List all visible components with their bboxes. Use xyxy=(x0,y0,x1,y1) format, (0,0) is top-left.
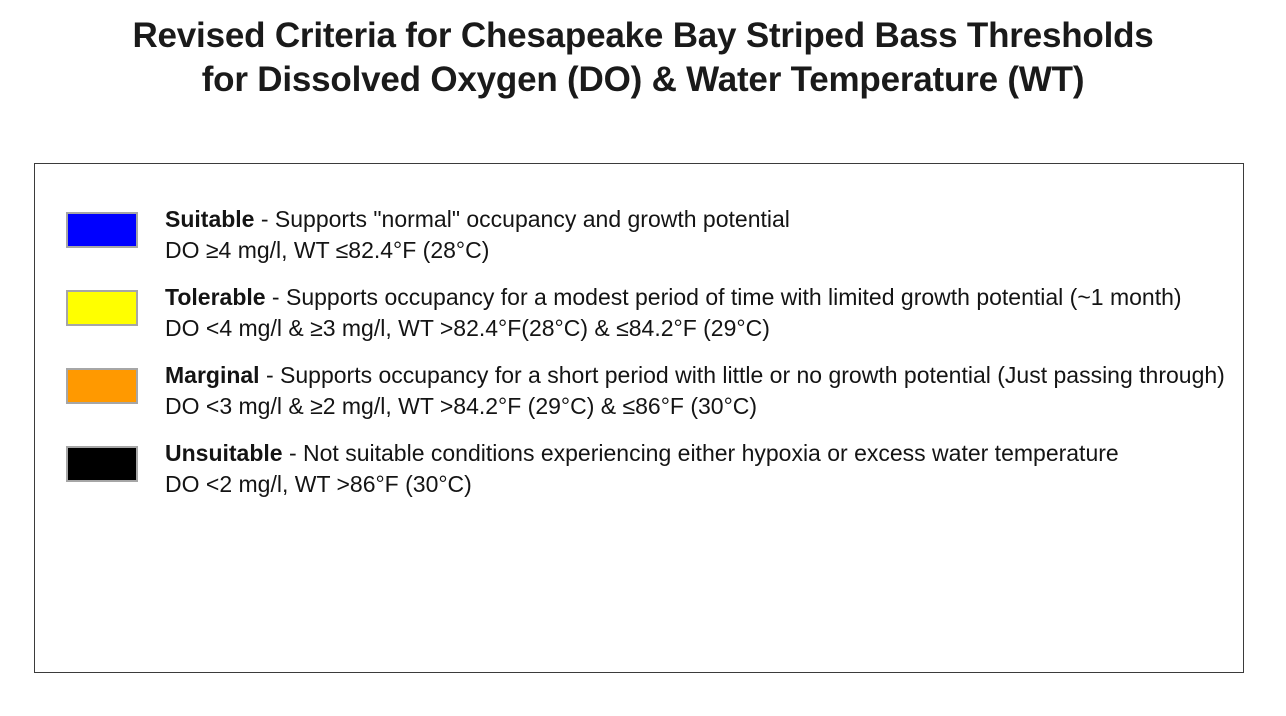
legend-item: Tolerable - Supports occupancy for a mod… xyxy=(35,282,1243,344)
legend-item-description-line: Unsuitable - Not suitable conditions exp… xyxy=(165,438,1225,469)
slide-canvas: Revised Criteria for Chesapeake Bay Stri… xyxy=(0,0,1286,716)
legend-item-name: Marginal xyxy=(165,362,260,388)
legend-item-separator: - xyxy=(283,440,303,466)
legend-item-description: Supports occupancy for a modest period o… xyxy=(286,284,1182,310)
legend-item-text: Tolerable - Supports occupancy for a mod… xyxy=(165,282,1225,344)
legend-item-separator: - xyxy=(254,206,274,232)
page-title: Revised Criteria for Chesapeake Bay Stri… xyxy=(40,14,1246,102)
legend-item-threshold-spec: DO <4 mg/l & ≥3 mg/l, WT >82.4°F(28°C) &… xyxy=(165,313,1225,344)
legend-item-description: Not suitable conditions experiencing eit… xyxy=(303,440,1119,466)
legend-color-swatch-black xyxy=(66,446,138,482)
legend-item-text: Marginal - Supports occupancy for a shor… xyxy=(165,360,1225,422)
legend-panel: Suitable - Supports "normal" occupancy a… xyxy=(34,163,1244,673)
legend-item-threshold-spec: DO <2 mg/l, WT >86°F (30°C) xyxy=(165,469,1225,500)
legend-item-text: Unsuitable - Not suitable conditions exp… xyxy=(165,438,1225,500)
legend-item-text: Suitable - Supports "normal" occupancy a… xyxy=(165,204,1225,266)
page-title-line-2: for Dissolved Oxygen (DO) & Water Temper… xyxy=(40,58,1246,102)
legend-item-name: Unsuitable xyxy=(165,440,283,466)
legend-item-separator: - xyxy=(266,284,286,310)
legend-color-swatch-yellow xyxy=(66,290,138,326)
legend-item: Marginal - Supports occupancy for a shor… xyxy=(35,360,1243,422)
legend-item-description: Supports "normal" occupancy and growth p… xyxy=(275,206,790,232)
legend-item-description-line: Suitable - Supports "normal" occupancy a… xyxy=(165,204,1225,235)
legend-item: Unsuitable - Not suitable conditions exp… xyxy=(35,438,1243,500)
legend-item-description: Supports occupancy for a short period wi… xyxy=(280,362,1225,388)
legend-color-swatch-blue xyxy=(66,212,138,248)
legend-item-threshold-spec: DO <3 mg/l & ≥2 mg/l, WT >84.2°F (29°C) … xyxy=(165,391,1225,422)
legend-item-name: Tolerable xyxy=(165,284,266,310)
page-title-line-1: Revised Criteria for Chesapeake Bay Stri… xyxy=(40,14,1246,58)
legend-item-name: Suitable xyxy=(165,206,254,232)
legend-list: Suitable - Supports "normal" occupancy a… xyxy=(35,164,1243,516)
legend-item-separator: - xyxy=(260,362,280,388)
legend-item-description-line: Marginal - Supports occupancy for a shor… xyxy=(165,360,1225,391)
legend-item-description-line: Tolerable - Supports occupancy for a mod… xyxy=(165,282,1225,313)
legend-item-threshold-spec: DO ≥4 mg/l, WT ≤82.4°F (28°C) xyxy=(165,235,1225,266)
legend-color-swatch-orange xyxy=(66,368,138,404)
legend-item: Suitable - Supports "normal" occupancy a… xyxy=(35,204,1243,266)
